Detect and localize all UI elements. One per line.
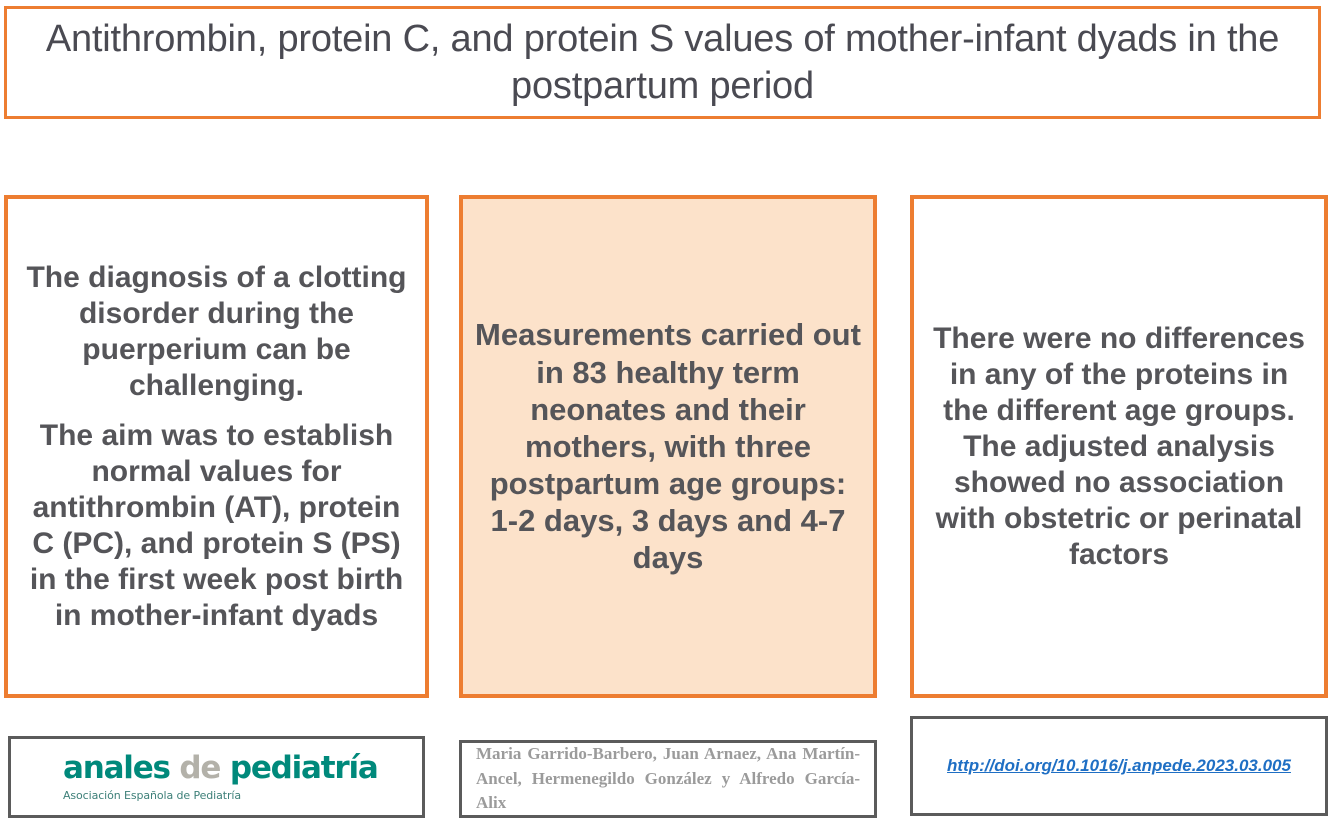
logo-subtitle: Asociación Española de Pediatría [63,789,422,802]
authors-list: Maria Garrido-Barbero, Juan Arnaez, Ana … [476,742,860,816]
panel-results: There were no differences in any of the … [910,195,1328,698]
doi-link[interactable]: http://doi.org/10.1016/j.anpede.2023.03.… [947,756,1291,776]
panel-background-aim: The diagnosis of a clotting disorder dur… [4,195,429,698]
panel-methods: Measurements carried out in 83 healthy t… [459,195,877,698]
logo-word-anales: anales [63,750,170,786]
panel-middle-paragraph-1: Measurements carried out in 83 healthy t… [473,316,863,576]
title-banner: Antithrombin, protein C, and protein S v… [4,6,1321,119]
logo-word-pediatria: pediatría [230,750,378,786]
panel-right-paragraph-1: There were no differences in any of the … [924,321,1314,573]
panel-left-paragraph-2: The aim was to establish normal values f… [18,418,415,634]
panel-left-paragraph-1: The diagnosis of a clotting disorder dur… [18,260,415,404]
journal-logo-wordmark: anales de pediatría [63,753,422,784]
graphical-abstract-root: Antithrombin, protein C, and protein S v… [0,0,1333,826]
page-title: Antithrombin, protein C, and protein S v… [7,16,1318,109]
doi-box: http://doi.org/10.1016/j.anpede.2023.03.… [910,716,1328,816]
logo-word-de: de [179,750,220,786]
authors-box: Maria Garrido-Barbero, Juan Arnaez, Ana … [459,740,877,818]
journal-logo-box: anales de pediatría Asociación Española … [8,736,425,818]
